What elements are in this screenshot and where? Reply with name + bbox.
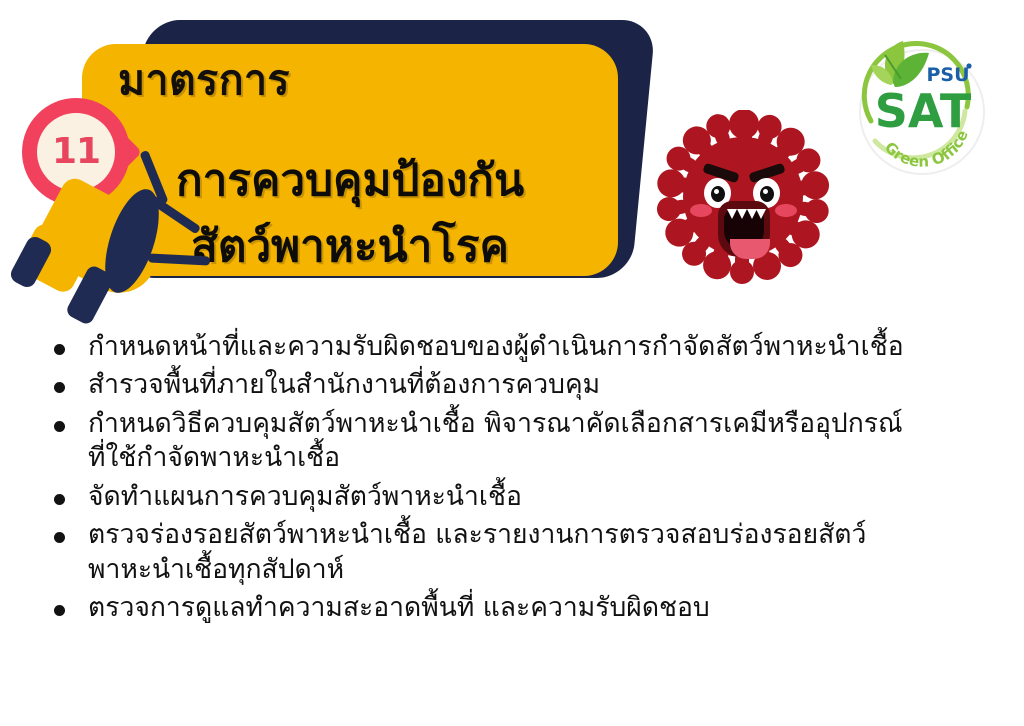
bullet-dot-icon [54,382,65,393]
virus-tooth [727,209,737,219]
angry-virus-icon [653,110,833,300]
virus-tooth [737,209,747,219]
virus-eye-glint [763,189,768,194]
measures-bullet-list: กำหนดหน้าที่และความรับผิดชอบของผู้ดำเนิน… [40,330,1000,630]
bullet-dot-icon [54,344,65,355]
list-item-text: จัดทำแผนการควบคุมสัตว์พาหะนำเชื้อ [88,480,1000,514]
virus-eye-glint [714,189,719,194]
list-item: กำหนดหน้าที่และความรับผิดชอบของผู้ดำเนิน… [40,330,1000,364]
virus-pupil [711,186,725,202]
virus-mouth-inner [724,209,764,249]
list-item-text: ตรวจการดูแลทำความสะอาดพื้นที่ และความรับ… [88,591,1000,625]
badge-number-label: 11 [52,134,100,170]
list-item: ตรวจการดูแลทำความสะอาดพื้นที่ และความรับ… [40,591,1000,625]
sat-green-office-logo: PSU SAT Green Office [845,35,995,180]
bullet-dot-icon [54,494,65,505]
poster-canvas: มาตรการ การควบคุมป้องกัน สัตว์พาหะนำโรค … [0,0,1024,726]
list-item-text: ตรวจร่องรอยสัตว์พาหะนำเชื้อ และรายงานการ… [88,518,1000,587]
virus-pupil [760,186,774,202]
header-banner: มาตรการ การควบคุมป้องกัน สัตว์พาหะนำโรค … [0,0,1024,318]
list-item-text: สำรวจพื้นที่ภายในสำนักงานที่ต้องการควบคุ… [88,368,1000,402]
virus-cheek [775,204,797,217]
bullet-dot-icon [54,421,65,432]
virus-cheek [690,204,712,217]
list-item: กำหนดวิธีควบคุมสัตว์พาหะนำเชื้อ พิจารณาค… [40,407,1000,476]
megaphone-icon [18,175,193,320]
logo-psu-text: PSU [926,64,969,86]
list-item-text: กำหนดหน้าที่และความรับผิดชอบของผู้ดำเนิน… [88,330,1000,364]
list-item: จัดทำแผนการควบคุมสัตว์พาหะนำเชื้อ [40,480,1000,514]
eyebrow-title: มาตรการ [118,60,290,101]
list-item: ตรวจร่องรอยสัตว์พาหะนำเชื้อ และรายงานการ… [40,518,1000,587]
virus-mouth [718,201,770,257]
virus-face [687,138,801,256]
list-item-text: กำหนดวิธีควบคุมสัตว์พาหะนำเชื้อ พิจารณาค… [88,407,1000,476]
bullet-dot-icon [54,532,65,543]
bullet-dot-icon [54,605,65,616]
list-item: สำรวจพื้นที่ภายในสำนักงานที่ต้องการควบคุ… [40,368,1000,402]
virus-tooth [756,209,766,219]
